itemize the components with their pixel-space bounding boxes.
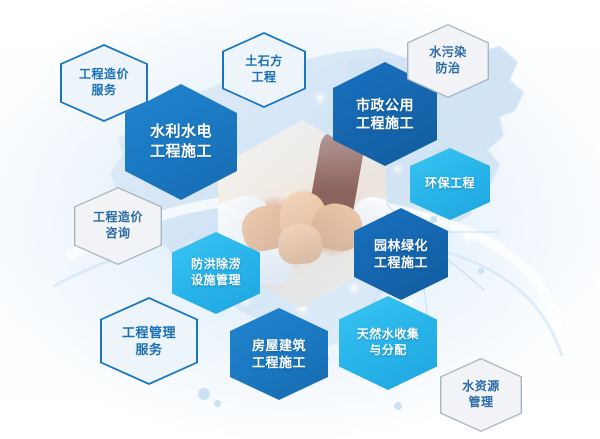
- sparkle-dot: [466, 236, 470, 240]
- hexagon-label: 土石方 工程: [245, 54, 283, 86]
- sparkle-dot-blue: [198, 388, 210, 400]
- hexagon-label: 园林绿化 工程施工: [374, 237, 428, 271]
- hexagon-label: 市政公用 工程施工: [356, 96, 414, 133]
- hexagon-water-pollution-control[interactable]: 水污染 防治: [407, 24, 489, 98]
- hexagon-label: 工程造价 咨询: [93, 210, 143, 242]
- hexagon-landscape-greening-construction[interactable]: 园林绿化 工程施工: [354, 208, 448, 300]
- hexagon-engineering-management-service[interactable]: 工程管理 服务: [100, 297, 198, 385]
- hexagon-label: 水资源 管理: [462, 379, 500, 411]
- hexagon-label: 工程管理 服务: [122, 324, 176, 358]
- sparkle-dot: [318, 96, 322, 100]
- hexagon-label: 天然水收集 与分配: [357, 327, 420, 359]
- hexagon-engineering-cost-consulting[interactable]: 工程造价 咨询: [74, 187, 162, 265]
- sparkle-dot: [396, 168, 399, 171]
- hexagon-label: 环保工程: [425, 176, 475, 192]
- hexagon-label: 防洪除涝 设施管理: [191, 257, 241, 289]
- sparkle-dot-blue: [478, 268, 484, 274]
- sparkle-dot-blue: [394, 402, 402, 410]
- sparkle-dot-blue: [214, 400, 221, 407]
- hexagon-label: 工程造价 服务: [79, 67, 129, 99]
- hexagon-water-resource-management[interactable]: 水资源 管理: [440, 358, 522, 432]
- hexagon-label: 房屋建筑 工程施工: [252, 337, 306, 371]
- diagram-canvas: 工程造价 服务土石方 工程水利水电 工程施工市政公用 工程施工水污染 防治环保工…: [0, 0, 600, 439]
- hexagon-label: 水污染 防治: [429, 45, 467, 77]
- hexagon-label: 水利水电 工程施工: [150, 122, 212, 162]
- hexagon-building-construction[interactable]: 房屋建筑 工程施工: [230, 308, 328, 400]
- hexagon-natural-water-collection-distribution[interactable]: 天然水收集 与分配: [339, 296, 437, 390]
